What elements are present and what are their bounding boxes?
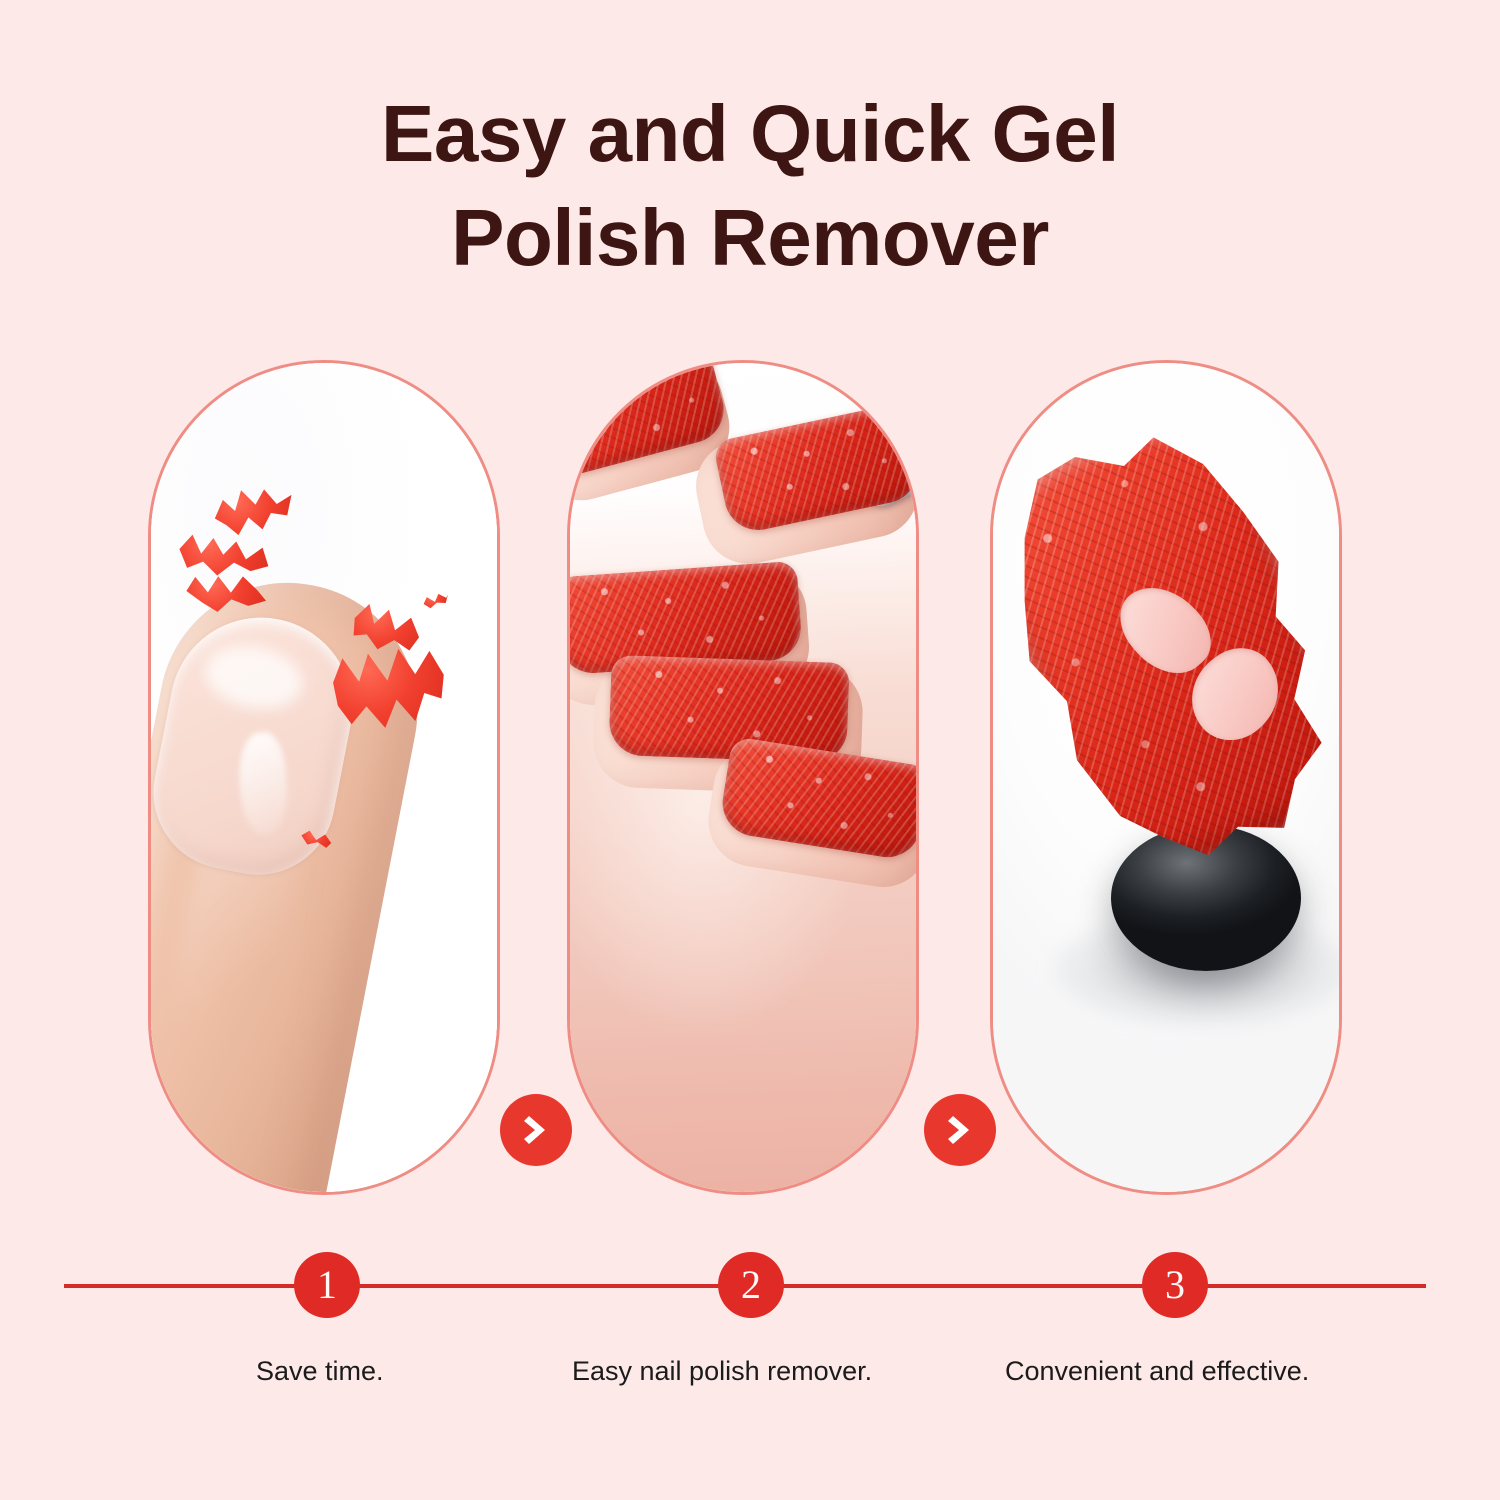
page-title: Easy and Quick Gel Polish Remover bbox=[0, 82, 1500, 290]
steps-strip: 1 2 3 Save time. Easy nail polish remove… bbox=[0, 1236, 1500, 1436]
title-line-2: Polish Remover bbox=[0, 186, 1500, 290]
step-badge-3: 3 bbox=[1142, 1252, 1208, 1318]
chevron-right-icon bbox=[521, 1113, 551, 1147]
step-caption-2: Easy nail polish remover. bbox=[572, 1356, 872, 1387]
step-caption-1: Save time. bbox=[256, 1356, 384, 1387]
chevron-right-icon bbox=[945, 1113, 975, 1147]
panel-gel-peel-on-cap bbox=[990, 360, 1342, 1195]
arrow-step-1-to-2 bbox=[500, 1094, 572, 1166]
step-number: 2 bbox=[741, 1265, 761, 1305]
panel-row bbox=[0, 360, 1500, 1195]
photo-gel-peel bbox=[993, 363, 1339, 1192]
title-line-1: Easy and Quick Gel bbox=[0, 82, 1500, 186]
step-number: 3 bbox=[1165, 1265, 1185, 1305]
step-badge-2: 2 bbox=[718, 1252, 784, 1318]
step-caption-3: Convenient and effective. bbox=[1005, 1356, 1309, 1387]
step-number: 1 bbox=[317, 1265, 337, 1305]
product-infographic: Easy and Quick Gel Polish Remover bbox=[0, 0, 1500, 1500]
photo-gel-coated-nails bbox=[570, 363, 916, 1192]
step-badge-1: 1 bbox=[294, 1252, 360, 1318]
gel-coated-nail bbox=[608, 655, 849, 763]
arrow-step-2-to-3 bbox=[924, 1094, 996, 1166]
panel-peeled-nail bbox=[148, 360, 500, 1195]
photo-peeled-nail bbox=[151, 363, 497, 1192]
panel-gel-coated-nails bbox=[567, 360, 919, 1195]
